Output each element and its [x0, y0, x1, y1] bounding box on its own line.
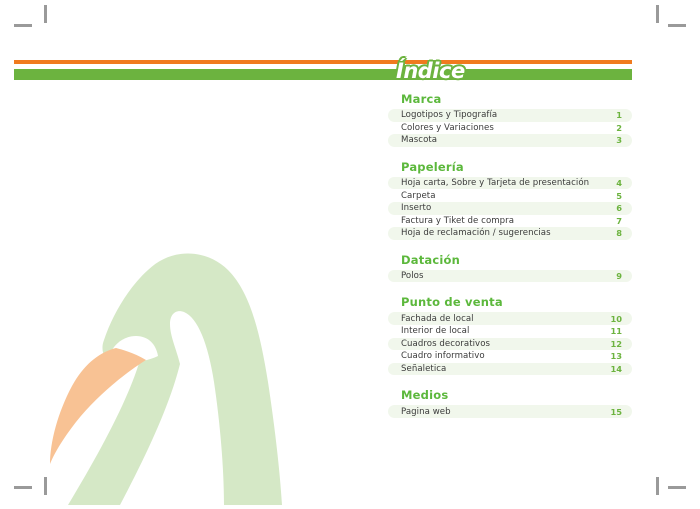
toc-entry-label: Cuadro informativo [401, 350, 485, 362]
crop-mark-bottom-left-vertical [44, 477, 47, 495]
crop-mark-bottom-right-horizontal [668, 486, 686, 489]
toc-entry[interactable]: Hoja de reclamación / sugerencias 8 [388, 227, 632, 240]
toc-entry-page: 14 [610, 363, 622, 375]
stork-bird-logo [28, 232, 328, 505]
toc-entry-page: 5 [616, 190, 622, 202]
toc-entry-page: 1 [616, 109, 622, 121]
toc-entry[interactable]: Mascota 3 [388, 134, 632, 147]
toc-entry-label: Logotipos y Tipografía [401, 109, 497, 121]
toc-entry-label: Cuadros decorativos [401, 338, 490, 350]
toc-entry-page: 11 [610, 325, 622, 337]
toc-entry-page: 6 [616, 202, 622, 214]
toc-section-title: Datación [388, 253, 632, 267]
toc-entry[interactable]: Colores y Variaciones 2 [388, 122, 632, 135]
toc-entry[interactable]: Polos 9 [388, 270, 632, 283]
crop-mark-top-left-vertical [44, 5, 47, 23]
header-orange-rule [14, 60, 632, 64]
toc-entry[interactable]: Carpeta 5 [388, 189, 632, 202]
toc-entry-label: Carpeta [401, 190, 436, 202]
toc-entry[interactable]: Interior de local 11 [388, 325, 632, 338]
table-of-contents: Marca Logotipos y Tipografía 1 Colores y… [388, 92, 632, 418]
crop-mark-top-left-horizontal [14, 24, 32, 27]
toc-entry[interactable]: Pagina web 15 [388, 405, 632, 418]
crop-mark-top-right-horizontal [668, 24, 686, 27]
toc-entry-page: 9 [616, 270, 622, 282]
header-rule-band [14, 60, 632, 84]
toc-entry[interactable]: Hoja carta, Sobre y Tarjeta de presentac… [388, 177, 632, 190]
header-green-rule [14, 69, 632, 80]
toc-entry-label: Hoja carta, Sobre y Tarjeta de presentac… [401, 177, 589, 189]
toc-entry[interactable]: Señaletica 14 [388, 363, 632, 376]
toc-section-punto-de-venta: Punto de venta Fachada de local 10 Inter… [388, 295, 632, 375]
toc-entry-label: Hoja de reclamación / sugerencias [401, 227, 551, 239]
toc-entry-page: 13 [610, 350, 622, 362]
toc-entry-label: Polos [401, 270, 424, 282]
toc-entry-page: 8 [616, 227, 622, 239]
crop-mark-top-right-vertical [656, 5, 659, 23]
toc-section-title: Papelería [388, 160, 632, 174]
toc-entry-page: 15 [610, 406, 622, 418]
toc-entry-page: 10 [610, 313, 622, 325]
toc-entry-page: 4 [616, 177, 622, 189]
toc-section-datacion: Datación Polos 9 [388, 253, 632, 283]
toc-entry[interactable]: Cuadro informativo 13 [388, 350, 632, 363]
toc-entry-page: 3 [616, 134, 622, 146]
toc-entry-label: Fachada de local [401, 313, 474, 325]
toc-section-medios: Medios Pagina web 15 [388, 388, 632, 418]
toc-entry[interactable]: Fachada de local 10 [388, 312, 632, 325]
crop-mark-bottom-right-vertical [656, 477, 659, 495]
toc-entry[interactable]: Inserto 6 [388, 202, 632, 215]
toc-section-marca: Marca Logotipos y Tipografía 1 Colores y… [388, 92, 632, 147]
toc-section-title: Marca [388, 92, 632, 106]
toc-section-title: Medios [388, 388, 632, 402]
toc-entry-label: Interior de local [401, 325, 469, 337]
toc-entry-label: Colores y Variaciones [401, 122, 494, 134]
toc-entry-label: Inserto [401, 202, 431, 214]
toc-section-title: Punto de venta [388, 295, 632, 309]
toc-section-papeleria: Papelería Hoja carta, Sobre y Tarjeta de… [388, 160, 632, 240]
toc-entry-label: Señaletica [401, 363, 446, 375]
toc-entry-label: Mascota [401, 134, 437, 146]
crop-mark-bottom-left-horizontal [14, 486, 32, 489]
toc-entry-label: Factura y Tiket de compra [401, 215, 514, 227]
toc-entry-page: 12 [610, 338, 622, 350]
toc-entry-label: Pagina web [401, 406, 451, 418]
toc-entry[interactable]: Factura y Tiket de compra 7 [388, 215, 632, 228]
toc-entry[interactable]: Cuadros decorativos 12 [388, 338, 632, 351]
toc-entry-page: 7 [616, 215, 622, 227]
page-title: Índice [396, 59, 465, 83]
toc-entry[interactable]: Logotipos y Tipografía 1 [388, 109, 632, 122]
toc-entry-page: 2 [616, 122, 622, 134]
